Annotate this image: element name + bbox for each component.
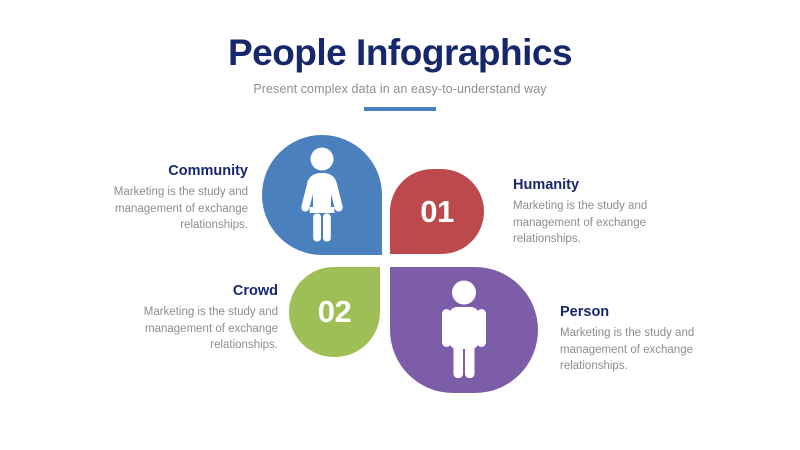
info-block-body: Marketing is the study and management of… [513, 198, 708, 248]
slide-canvas: People Infographics Present complex data… [0, 0, 800, 450]
info-block-crowd: Crowd Marketing is the study and managem… [92, 282, 278, 354]
info-block-body: Marketing is the study and management of… [560, 325, 755, 375]
petal-community[interactable] [262, 135, 382, 255]
male-person-icon [441, 280, 487, 380]
title-underline-rule [364, 107, 436, 111]
petal-number-01: 01 [420, 194, 453, 230]
info-block-person: Person Marketing is the study and manage… [560, 303, 755, 375]
petal-person[interactable] [390, 267, 538, 393]
info-block-title: Person [560, 303, 755, 322]
info-block-title: Humanity [513, 176, 708, 195]
info-block-body: Marketing is the study and management of… [62, 184, 248, 234]
info-block-humanity: Humanity Marketing is the study and mana… [513, 176, 708, 248]
petal-humanity[interactable]: 01 [390, 169, 484, 254]
page-subtitle: Present complex data in an easy-to-under… [0, 82, 800, 96]
info-block-title: Community [62, 162, 248, 181]
info-block-community: Community Marketing is the study and man… [62, 162, 248, 234]
petal-crowd[interactable]: 02 [289, 267, 380, 357]
page-title: People Infographics [0, 30, 800, 76]
female-person-icon [300, 147, 344, 243]
info-block-title: Crowd [92, 282, 278, 301]
slide-header: People Infographics Present complex data… [0, 30, 800, 111]
info-block-body: Marketing is the study and management of… [92, 304, 278, 354]
petal-number-02: 02 [318, 294, 351, 330]
